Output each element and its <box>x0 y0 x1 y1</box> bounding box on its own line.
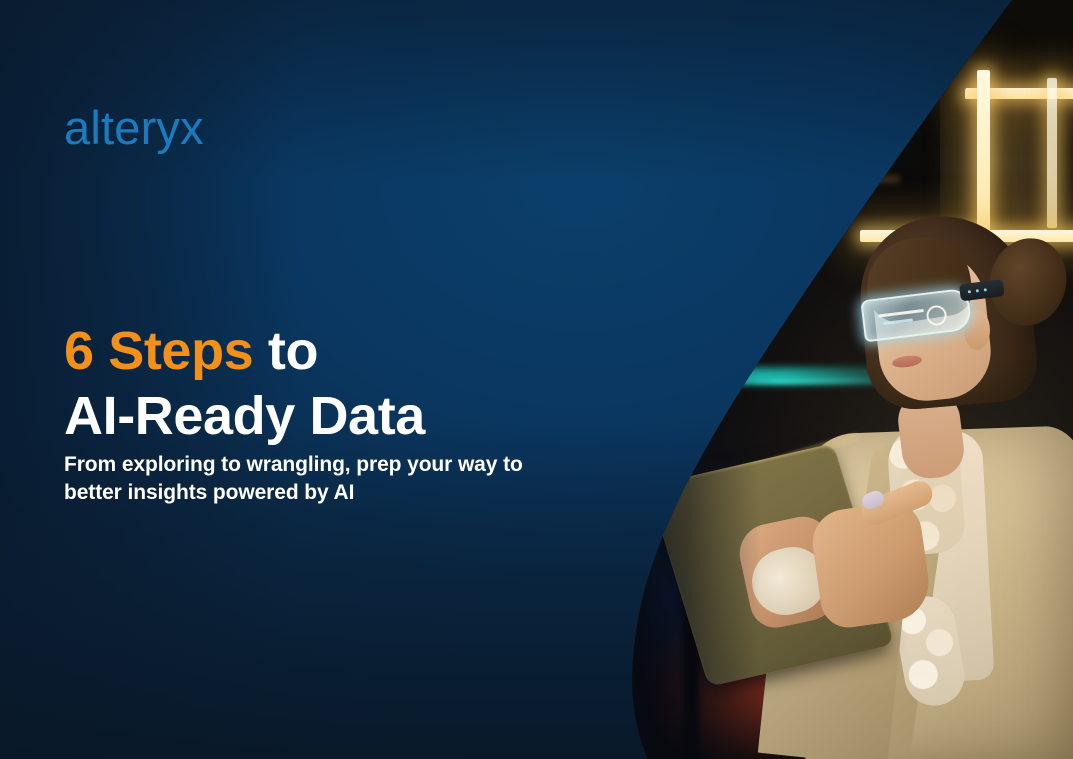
glasses-indicator-dot <box>976 289 979 292</box>
glasses-indicator-dot <box>968 290 971 293</box>
glasses-hud-line-2 <box>883 318 913 325</box>
neon-bar-vertical-left <box>977 70 990 240</box>
glasses-indicator-dot <box>984 288 987 291</box>
title-line-two: AI-Ready Data <box>64 386 425 446</box>
glasses-hud-line-1 <box>878 309 924 318</box>
alteryx-logo[interactable]: alteryx <box>64 104 204 151</box>
ebook-cover: alteryx 6 Steps to AI-Ready Data From ex… <box>0 0 1073 759</box>
page-title: 6 Steps to AI-Ready Data <box>64 319 425 449</box>
neon-bar-vertical-right <box>1047 78 1057 228</box>
title-accent-text: 6 Steps <box>64 321 253 381</box>
glasses-hud-reticle <box>925 304 947 326</box>
page-subtitle: From exploring to wrangling, prep your w… <box>64 451 584 507</box>
title-rest-text: to <box>253 321 318 381</box>
